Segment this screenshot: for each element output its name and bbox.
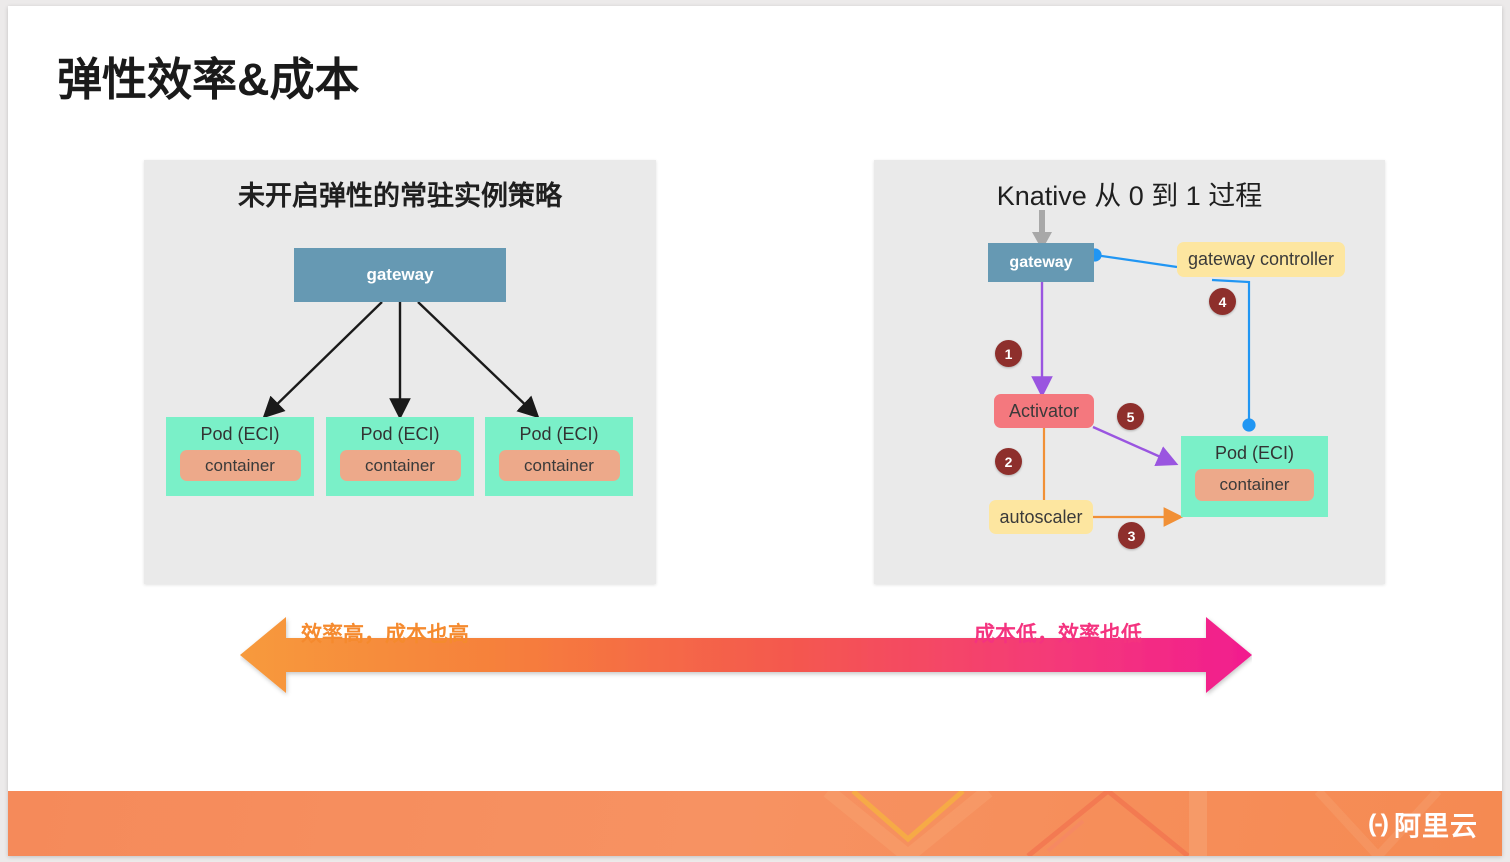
container-box[interactable]: container bbox=[340, 450, 461, 481]
activator-label: Activator bbox=[1009, 401, 1079, 422]
container-box[interactable]: container bbox=[180, 450, 301, 481]
pod-node[interactable]: Pod (ECI) container bbox=[326, 417, 474, 496]
gateway-controller-node[interactable]: gateway controller bbox=[1177, 242, 1345, 277]
spectrum-left-label: 效率高，成本也高 bbox=[301, 618, 469, 648]
step-badge-label: 1 bbox=[1005, 346, 1013, 362]
left-panel-edges bbox=[144, 160, 656, 584]
left-panel: 未开启弹性的常驻实例策略 gateway Pod (ECI) container bbox=[144, 160, 656, 584]
alibaba-cloud-logo: (-) 阿里云 bbox=[1368, 804, 1478, 843]
pod-label: Pod (ECI) bbox=[1215, 443, 1294, 464]
autoscaler-node[interactable]: autoscaler bbox=[989, 500, 1093, 534]
cloud-logo-text: 阿里云 bbox=[1394, 804, 1478, 843]
container-label: container bbox=[524, 456, 594, 476]
page-title: 弹性效率&成本 bbox=[57, 54, 360, 106]
step-badge-5: 5 bbox=[1117, 403, 1144, 430]
left-panel-title: 未开启弹性的常驻实例策略 bbox=[144, 174, 656, 213]
step-badge-label: 4 bbox=[1219, 294, 1227, 310]
pod-label: Pod (ECI) bbox=[200, 424, 279, 445]
pod-node[interactable]: Pod (ECI) container bbox=[1181, 436, 1328, 517]
right-panel-title: Knative 从 0 到 1 过程 bbox=[874, 174, 1385, 213]
container-label: container bbox=[365, 456, 435, 476]
container-label: container bbox=[1220, 475, 1290, 495]
step-badge-2: 2 bbox=[995, 448, 1022, 475]
step-badge-3: 3 bbox=[1118, 522, 1145, 549]
step-badge-label: 2 bbox=[1005, 454, 1013, 470]
gateway-controller-label: gateway controller bbox=[1188, 249, 1334, 270]
pod-node[interactable]: Pod (ECI) container bbox=[485, 417, 633, 496]
footer-pattern-icon bbox=[8, 791, 1502, 856]
pod-label: Pod (ECI) bbox=[519, 424, 598, 445]
activator-node[interactable]: Activator bbox=[994, 394, 1094, 428]
right-gateway-label: gateway bbox=[1009, 254, 1072, 272]
pod-label: Pod (ECI) bbox=[360, 424, 439, 445]
pod-node[interactable]: Pod (ECI) container bbox=[166, 417, 314, 496]
autoscaler-label: autoscaler bbox=[999, 507, 1082, 528]
right-gateway-node[interactable]: gateway bbox=[988, 243, 1094, 282]
left-gateway-node[interactable]: gateway bbox=[294, 248, 506, 302]
step-badge-label: 5 bbox=[1127, 409, 1135, 425]
footer-band: (-) 阿里云 bbox=[8, 791, 1502, 856]
left-gateway-label: gateway bbox=[366, 265, 433, 285]
container-box[interactable]: container bbox=[499, 450, 620, 481]
container-box[interactable]: container bbox=[1195, 469, 1314, 501]
step-badge-1: 1 bbox=[995, 340, 1022, 367]
container-label: container bbox=[205, 456, 275, 476]
step-badge-4: 4 bbox=[1209, 288, 1236, 315]
spectrum-right-label: 成本低，效率也低 bbox=[974, 618, 1142, 648]
right-panel-edges bbox=[874, 160, 1385, 584]
right-panel: Knative 从 0 到 1 过程 bbox=[874, 160, 1385, 584]
step-badge-label: 3 bbox=[1128, 528, 1136, 544]
cloud-logo-mark-icon: (-) bbox=[1368, 809, 1387, 838]
slide-canvas: 弹性效率&成本 未开启弹性的常驻实例策略 gateway Pod (ECI) c… bbox=[8, 6, 1502, 856]
